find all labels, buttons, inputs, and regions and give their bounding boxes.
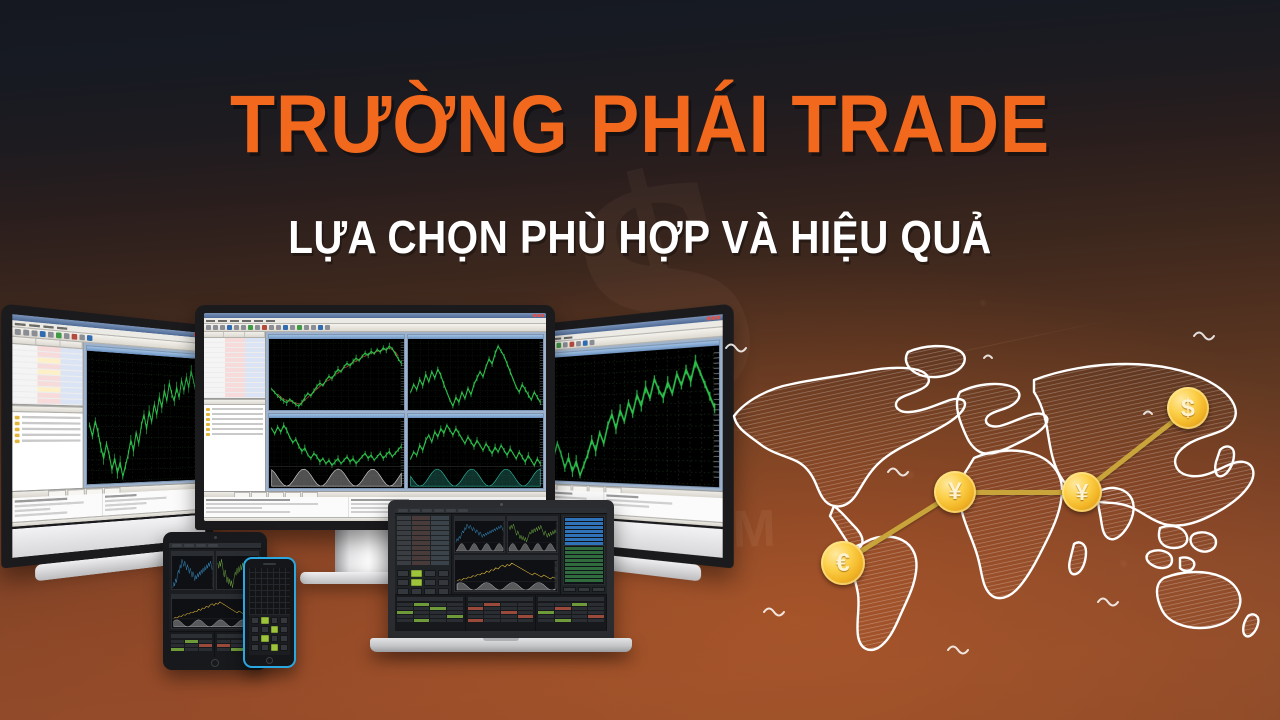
panel-header bbox=[217, 552, 258, 556]
monitor-screen[interactable] bbox=[530, 314, 723, 527]
chart-window[interactable] bbox=[407, 413, 544, 490]
yen-symbol: ¥ bbox=[948, 480, 961, 504]
mt4-toolbar[interactable] bbox=[204, 324, 546, 332]
coin-disc: $ bbox=[1167, 387, 1209, 429]
quote-row[interactable] bbox=[397, 551, 449, 555]
trade-button[interactable] bbox=[438, 579, 450, 586]
orders-col bbox=[536, 595, 607, 631]
euro-coin[interactable]: € bbox=[821, 541, 865, 585]
orders-col bbox=[169, 632, 215, 657]
trade-button[interactable] bbox=[271, 617, 279, 624]
monitor-center[interactable] bbox=[195, 305, 555, 530]
orders-col bbox=[466, 595, 537, 631]
chart-titlebar bbox=[408, 414, 543, 418]
chart-window[interactable] bbox=[268, 334, 405, 411]
phone-trade-buttons[interactable] bbox=[249, 615, 290, 655]
chart-row-main bbox=[452, 555, 560, 594]
chart-column bbox=[452, 514, 560, 594]
trade-button[interactable] bbox=[271, 635, 279, 642]
navigator-item[interactable] bbox=[206, 432, 263, 436]
trade-button[interactable] bbox=[261, 644, 269, 651]
mt4-window bbox=[530, 314, 723, 527]
quotes-panel[interactable] bbox=[395, 514, 452, 594]
orders-panel[interactable] bbox=[395, 594, 607, 631]
coin-disc: € bbox=[821, 541, 865, 585]
chart-grid bbox=[266, 332, 546, 491]
home-button-icon[interactable] bbox=[266, 657, 273, 664]
world-map bbox=[712, 330, 1280, 660]
phone-frame bbox=[245, 559, 294, 666]
chart-titlebar bbox=[408, 335, 543, 339]
trade-button[interactable] bbox=[280, 626, 288, 633]
depth-buttons[interactable] bbox=[563, 587, 605, 592]
quote-row[interactable] bbox=[397, 541, 449, 545]
panel-header bbox=[172, 552, 213, 556]
quote-row[interactable] bbox=[397, 536, 449, 540]
laptop-base bbox=[370, 638, 632, 652]
dollar-coin[interactable]: $ bbox=[1167, 387, 1209, 429]
phone-screen[interactable] bbox=[249, 568, 290, 655]
navigator-item[interactable] bbox=[15, 415, 81, 421]
chart-area[interactable] bbox=[530, 337, 723, 491]
mt4-body bbox=[12, 337, 205, 491]
chart-row bbox=[452, 514, 560, 555]
camera-icon bbox=[500, 503, 503, 506]
quote-row[interactable] bbox=[397, 521, 449, 525]
mt4-window bbox=[204, 313, 546, 521]
chart-panel[interactable] bbox=[454, 516, 505, 553]
market-watch-rows[interactable] bbox=[204, 338, 265, 398]
navigator-tree[interactable] bbox=[204, 405, 265, 439]
order-book-asks[interactable] bbox=[563, 545, 605, 585]
quote-row[interactable] bbox=[397, 561, 449, 565]
page-subtitle: LỰA CHỌN PHÙ HỢP VÀ HIỆU QUẢ bbox=[77, 214, 1203, 260]
orders-col bbox=[395, 595, 466, 631]
navigator-item[interactable] bbox=[206, 412, 263, 416]
market-watch-rows[interactable] bbox=[12, 344, 82, 406]
coin-disc: ¥ bbox=[1062, 472, 1102, 512]
navigator-item[interactable] bbox=[15, 438, 81, 443]
yuan-coin[interactable]: ¥ bbox=[1062, 472, 1102, 512]
chart-window[interactable] bbox=[407, 334, 544, 411]
trade-button[interactable] bbox=[397, 570, 409, 577]
navigator-item[interactable] bbox=[206, 407, 263, 411]
mt4-window bbox=[12, 314, 205, 527]
trade-button[interactable] bbox=[251, 635, 259, 642]
euro-symbol: € bbox=[836, 551, 850, 576]
buy-button[interactable] bbox=[271, 644, 279, 651]
buy-button[interactable] bbox=[271, 626, 279, 633]
chart-grid bbox=[530, 337, 723, 491]
buy-button[interactable] bbox=[261, 617, 269, 624]
mt4-body bbox=[204, 332, 546, 491]
trade-button[interactable] bbox=[397, 579, 409, 586]
panel-header bbox=[455, 517, 504, 521]
laptop-screen[interactable] bbox=[395, 508, 607, 631]
quote-row[interactable] bbox=[397, 556, 449, 560]
trade-button[interactable] bbox=[280, 644, 288, 651]
chart-grid bbox=[84, 343, 205, 488]
trade-button[interactable] bbox=[251, 617, 259, 624]
chart-window[interactable] bbox=[86, 345, 204, 485]
chart-titlebar bbox=[269, 414, 404, 418]
trade-button[interactable] bbox=[424, 579, 436, 586]
quotes-list[interactable] bbox=[395, 514, 451, 568]
chart-window[interactable] bbox=[532, 339, 721, 488]
quote-row[interactable] bbox=[397, 531, 449, 535]
trading-terminal bbox=[395, 508, 607, 631]
navigator-item[interactable] bbox=[15, 421, 81, 426]
yuan-symbol: ¥ bbox=[1076, 481, 1089, 504]
home-button-icon[interactable] bbox=[211, 659, 219, 667]
buy-button[interactable] bbox=[411, 579, 423, 586]
panel-header bbox=[455, 556, 557, 560]
quote-row[interactable] bbox=[397, 516, 449, 520]
yen-coin[interactable]: ¥ bbox=[934, 471, 976, 513]
phone-bezel bbox=[243, 557, 296, 668]
laptop-notch bbox=[483, 638, 519, 641]
page-title: TRƯỜNG PHÁI TRADE bbox=[64, 84, 1216, 166]
laptop-device[interactable] bbox=[370, 500, 632, 668]
quote-row[interactable] bbox=[397, 546, 449, 550]
navigator-item[interactable] bbox=[15, 432, 81, 437]
coin-disc: ¥ bbox=[934, 471, 976, 513]
market-watch-panel[interactable] bbox=[12, 337, 83, 491]
chart-panel[interactable] bbox=[507, 516, 558, 553]
laptop-lid bbox=[388, 500, 614, 640]
bokeh-dot bbox=[980, 300, 986, 306]
phone-chart-grid[interactable] bbox=[249, 568, 290, 615]
chart-area[interactable] bbox=[84, 343, 205, 488]
speaker-icon bbox=[263, 563, 276, 565]
monitor-left[interactable] bbox=[1, 303, 213, 568]
quote-row[interactable] bbox=[397, 526, 449, 530]
mt4-body bbox=[530, 337, 723, 491]
camera-icon bbox=[214, 536, 217, 539]
trade-button[interactable] bbox=[251, 644, 259, 651]
trade-button[interactable] bbox=[251, 626, 259, 633]
navigator-item[interactable] bbox=[206, 422, 263, 426]
buy-button[interactable] bbox=[261, 635, 269, 642]
navigator-item[interactable] bbox=[15, 426, 81, 431]
trade-button[interactable] bbox=[438, 570, 450, 577]
navigator-tree[interactable] bbox=[12, 412, 82, 447]
trading-banner: $ OM TRƯỜNG PHÁI TRADE LỰA CHỌN PHÙ HỢP … bbox=[0, 0, 1280, 720]
navigator-item[interactable] bbox=[206, 417, 263, 421]
chart-panel-main[interactable] bbox=[454, 555, 558, 592]
market-watch-panel[interactable] bbox=[204, 332, 266, 491]
chart-titlebar bbox=[269, 335, 404, 339]
phone-device[interactable] bbox=[243, 557, 296, 668]
chart-window[interactable] bbox=[268, 413, 405, 490]
depth-panel[interactable] bbox=[560, 514, 607, 594]
dollar-symbol: $ bbox=[1181, 396, 1195, 421]
chart-area[interactable] bbox=[266, 332, 546, 491]
chart-panel[interactable] bbox=[171, 551, 214, 590]
panel-header bbox=[508, 517, 557, 521]
monitor-screen[interactable] bbox=[204, 313, 546, 521]
monitor-screen[interactable] bbox=[12, 314, 205, 527]
trade-button[interactable] bbox=[261, 626, 269, 633]
order-book-bids[interactable] bbox=[563, 516, 605, 543]
trade-button[interactable] bbox=[280, 617, 288, 624]
trade-button[interactable] bbox=[280, 635, 288, 642]
terminal-col-left bbox=[204, 497, 348, 517]
terminal-main bbox=[395, 514, 607, 594]
trade-button[interactable] bbox=[424, 570, 436, 577]
navigator-item[interactable] bbox=[206, 427, 263, 431]
buy-button[interactable] bbox=[411, 570, 423, 577]
